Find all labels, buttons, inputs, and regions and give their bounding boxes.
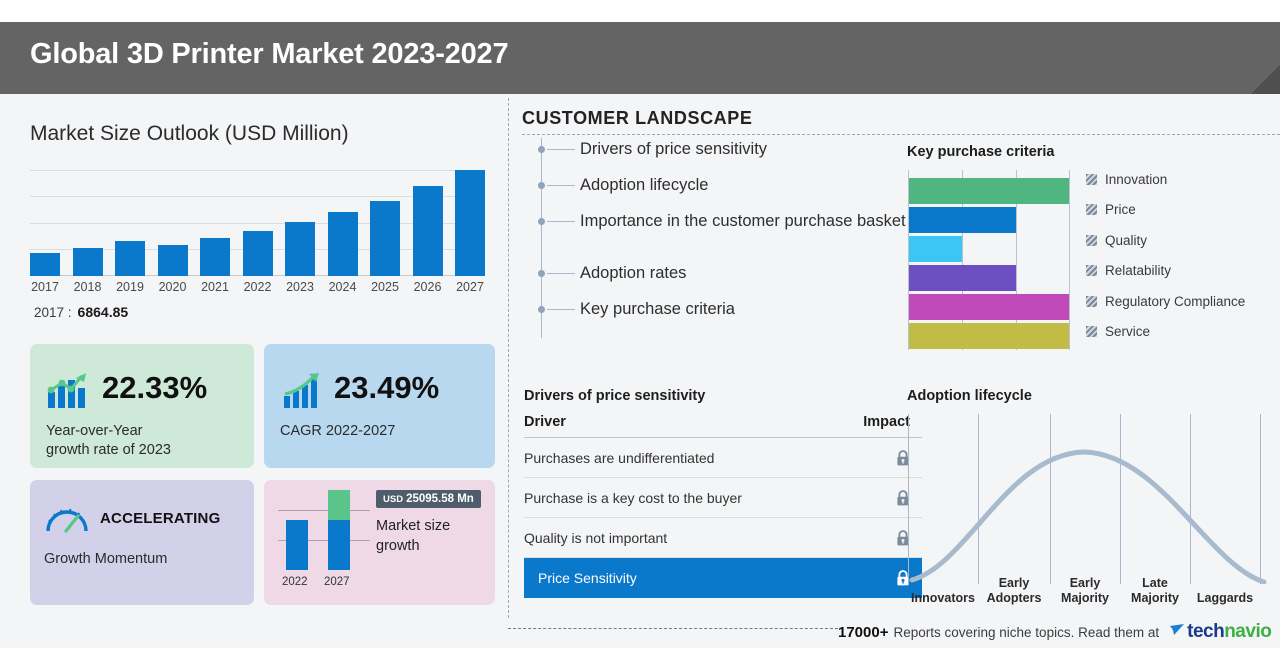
report-count: 17000+ (838, 624, 888, 641)
legend-swatch-icon (1086, 204, 1097, 215)
drivers-title: Drivers of price sensitivity (524, 388, 705, 404)
footer-text: Reports covering niche topics. Read them… (893, 625, 1159, 640)
bullet-dot (538, 270, 545, 277)
card-growth-momentum: ACCELERATING Growth Momentum (30, 480, 254, 605)
legend-swatch-icon (1086, 174, 1097, 185)
bullet-dot (538, 306, 545, 313)
market-size-panel: Market Size Outlook (USD Million) 201720… (0, 94, 508, 618)
legend-label: Innovation (1105, 172, 1167, 187)
title-underline (522, 134, 1280, 135)
market-growth-label: Market size growth (376, 516, 450, 556)
connector-line (547, 185, 575, 186)
kpc-bar-price (909, 207, 1016, 233)
market-size-badge: USD25095.58 Mn (376, 490, 481, 508)
legend-swatch-icon (1086, 296, 1097, 307)
legend-label: Regulatory Compliance (1105, 294, 1245, 309)
badge-value: 25095.58 Mn (406, 493, 474, 505)
market-size-title: Market Size Outlook (USD Million) (30, 122, 349, 146)
bar-2020 (158, 245, 188, 276)
x-label-2021: 2021 (200, 280, 230, 294)
bar-2019 (115, 241, 145, 276)
market-growth-minichart: 2022 2027 (278, 502, 370, 588)
value-number: 6864.85 (78, 304, 129, 320)
x-label-2020: 2020 (158, 280, 188, 294)
x-axis-labels: 2017201820192020202120222023202420252026… (30, 280, 485, 294)
legend-label: Quality (1105, 233, 1147, 248)
al-segment-1: Innovators (908, 591, 978, 606)
legend-swatch-icon (1086, 235, 1097, 246)
legend-swatch-icon (1086, 265, 1097, 276)
landscape-item-label: Adoption rates (580, 262, 910, 284)
driver-label: Price Sensitivity (538, 570, 637, 586)
bar-2027 (455, 170, 485, 276)
bar-2018 (73, 248, 103, 276)
customer-landscape-panel: CUSTOMER LANDSCAPE Drivers of price sens… (508, 94, 1280, 618)
al-segment-3: EarlyMajority (1050, 576, 1120, 606)
landscape-item-label: Key purchase criteria (580, 298, 910, 320)
x-label-2025: 2025 (370, 280, 400, 294)
connector-line (547, 309, 575, 310)
bar-series (30, 170, 485, 276)
col-driver: Driver (524, 414, 566, 430)
drivers-table: Driver Impact Purchases are undifferenti… (524, 414, 922, 598)
bar-2022 (243, 231, 273, 276)
market-size-chart (30, 170, 485, 276)
driver-label: Purchase is a key cost to the buyer (524, 490, 742, 506)
minichart-label-2022: 2022 (282, 576, 308, 588)
x-label-2018: 2018 (73, 280, 103, 294)
kpc-bar-quality (909, 236, 962, 262)
x-label-2027: 2027 (455, 280, 485, 294)
bar-2026 (413, 186, 443, 276)
connector-line (547, 221, 575, 222)
cagr-value: 23.49% (334, 370, 439, 406)
minichart-label-2027: 2027 (324, 576, 350, 588)
table-row[interactable]: Purchases are undifferentiated (524, 438, 922, 478)
header-bar: Global 3D Printer Market 2023-2027 (0, 22, 1280, 94)
adoption-lifecycle-chart: InnovatorsEarlyAdoptersEarlyMajorityLate… (908, 414, 1268, 606)
yoy-label: Year-over-Year growth rate of 2023 (46, 422, 171, 460)
bar-chart-arrow-icon (282, 372, 324, 413)
card-yoy-growth: 22.33% Year-over-Year growth rate of 202… (30, 344, 254, 468)
connector-line (547, 149, 575, 150)
drivers-table-header: Driver Impact (524, 414, 922, 438)
kpc-gridline (1069, 170, 1070, 350)
col-impact: Impact (863, 414, 910, 430)
adoption-curve (908, 414, 1268, 584)
legend-label: Service (1105, 324, 1150, 339)
minichart-bar-2027 (328, 490, 350, 570)
top-margin (0, 0, 1280, 22)
kpc-legend-item-4[interactable]: Relatability (1086, 263, 1245, 293)
connector-line (547, 273, 575, 274)
minichart-bar-2022 (286, 520, 308, 570)
minichart-bar-2027-growth (328, 490, 350, 520)
yoy-label-line2: growth rate of 2023 (46, 442, 171, 458)
kpc-bar-regulatory-compliance (909, 294, 1069, 320)
badge-currency: USD (383, 494, 403, 505)
x-label-2019: 2019 (115, 280, 145, 294)
kpc-legend-item-1[interactable]: Innovation (1086, 172, 1245, 202)
legend-label: Price (1105, 202, 1136, 217)
momentum-label: Growth Momentum (44, 550, 167, 569)
bar-2025 (370, 201, 400, 276)
bar-chart-growth-icon (46, 370, 92, 415)
infographic-page: Global 3D Printer Market 2023-2027 Marke… (0, 0, 1280, 670)
bar-2021 (200, 238, 230, 276)
x-label-2024: 2024 (328, 280, 358, 294)
minichart-gridline (278, 510, 370, 511)
momentum-status: ACCELERATING (100, 510, 220, 527)
adoption-lifecycle-title: Adoption lifecycle (907, 388, 1032, 404)
kpc-legend-item-6[interactable]: Service (1086, 324, 1245, 354)
al-segment-5: Laggards (1190, 591, 1260, 606)
yoy-value: 22.33% (102, 370, 207, 406)
bar-2023 (285, 222, 315, 276)
driver-label: Purchases are undifferentiated (524, 450, 714, 466)
kpc-bar-innovation (909, 178, 1069, 204)
table-row[interactable]: Price Sensitivity (524, 558, 922, 598)
legend-swatch-icon (1086, 326, 1097, 337)
page-title: Global 3D Printer Market 2023-2027 (30, 38, 508, 71)
kpc-bar-relatability (909, 265, 1016, 291)
al-segment-2: EarlyAdopters (978, 576, 1050, 606)
technavio-logo[interactable]: technavio (1169, 621, 1271, 643)
bar-2024 (328, 212, 358, 276)
speedometer-icon (44, 504, 90, 539)
kpc-legend: InnovationPriceQualityRelatabilityRegula… (1086, 172, 1245, 354)
kpc-legend-item-5[interactable]: Regulatory Compliance (1086, 294, 1245, 324)
x-label-2017: 2017 (30, 280, 60, 294)
drivers-rows: Purchases are undifferentiatedPurchase i… (524, 438, 922, 598)
landscape-item-label: Drivers of price sensitivity (580, 138, 910, 160)
logo-navio: navio (1224, 621, 1271, 643)
card-market-size-growth: 2022 2027 USD25095.58 Mn Market size gro… (264, 480, 495, 605)
market-growth-line2: growth (376, 538, 420, 554)
x-label-2026: 2026 (413, 280, 443, 294)
driver-label: Quality is not important (524, 530, 667, 546)
logo-tech: tech (1187, 621, 1224, 643)
table-row[interactable]: Purchase is a key cost to the buyer (524, 478, 922, 518)
kpc-legend-item-2[interactable]: Price (1086, 202, 1245, 232)
kpc-chart (908, 170, 1070, 350)
footer: 17000+ Reports covering niche topics. Re… (838, 618, 1271, 646)
kpc-title: Key purchase criteria (907, 144, 1055, 160)
kpc-legend-item-3[interactable]: Quality (1086, 233, 1245, 263)
bar-2017 (30, 253, 60, 276)
yoy-label-line1: Year-over-Year (46, 423, 142, 439)
card-cagr: 23.49% CAGR 2022-2027 (264, 344, 495, 468)
table-row[interactable]: Quality is not important (524, 518, 922, 558)
bullet-dot (538, 146, 545, 153)
al-segment-4: LateMajority (1120, 576, 1190, 606)
x-label-2023: 2023 (285, 280, 315, 294)
technavio-arrow-icon (1169, 621, 1185, 643)
bottom-margin (0, 648, 1280, 670)
landscape-item-label: Importance in the customer purchase bask… (580, 210, 910, 232)
market-growth-line1: Market size (376, 518, 450, 534)
cagr-label: CAGR 2022-2027 (280, 422, 395, 441)
bullet-dot (538, 218, 545, 225)
landscape-item-label: Adoption lifecycle (580, 174, 910, 196)
market-size-value: 2017 :6864.85 (34, 304, 128, 320)
legend-label: Relatability (1105, 263, 1171, 278)
value-year-label: 2017 : (34, 305, 72, 320)
x-label-2022: 2022 (243, 280, 273, 294)
customer-landscape-title: CUSTOMER LANDSCAPE (522, 108, 752, 129)
bullet-dot (538, 182, 545, 189)
kpc-bar-service (909, 323, 1069, 349)
footer-divider (508, 628, 838, 629)
